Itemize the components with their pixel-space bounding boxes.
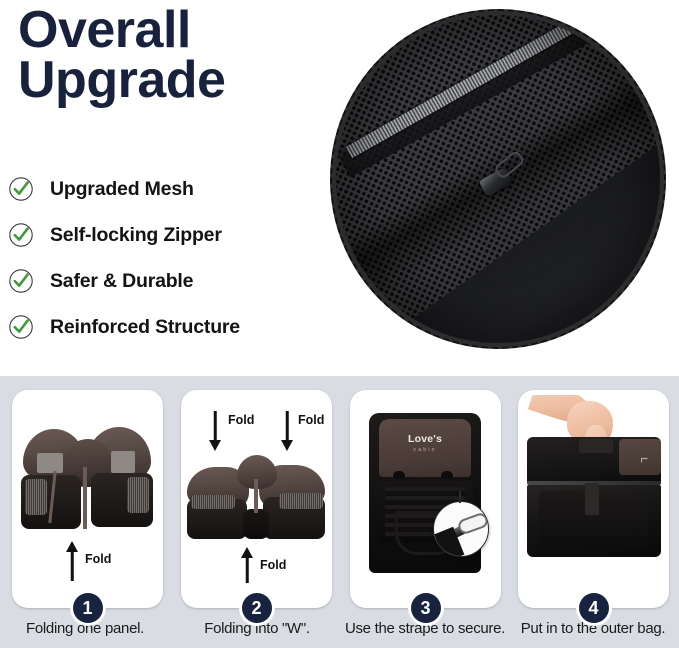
- folding-steps-section: Fold 1 Folding one panel. Fold Fold: [0, 376, 679, 648]
- step-3-photo: Love's cabin: [355, 395, 496, 591]
- arrow-head-icon: [209, 440, 221, 451]
- playpen-center-seam: [83, 467, 87, 529]
- strap-detail-inset: [433, 501, 489, 557]
- fold-arrow-down-right: [278, 411, 296, 451]
- step-number-badge: 2: [242, 593, 272, 623]
- playpen-illustration: [21, 423, 155, 535]
- feature-label: Upgraded Mesh: [50, 178, 194, 201]
- feature-label: Safer & Durable: [50, 270, 193, 293]
- step-card-4: L 4: [518, 390, 669, 608]
- step-card-2: Fold Fold Fold 2: [181, 390, 332, 608]
- playpen-body-center-notch: [243, 509, 269, 539]
- fold-label: Fold: [260, 558, 286, 572]
- arrow-shaft: [286, 411, 289, 441]
- arrow-shaft: [71, 551, 74, 581]
- playpen-mesh-right: [127, 477, 149, 513]
- hero-photo-inner: [336, 15, 660, 343]
- feature-list: Upgraded Mesh Self-locking Zipper Safer …: [8, 166, 318, 350]
- feature-highlight-section: Overall Upgrade Upgraded Mesh Self-locki…: [0, 0, 679, 376]
- step-card-3: Love's cabin 3: [350, 390, 501, 608]
- fold-arrow-up: [63, 541, 81, 581]
- playpen-mesh-right: [279, 493, 323, 509]
- inset-strap-tip: [456, 511, 489, 535]
- fold-label: Fold: [298, 413, 324, 427]
- check-circle-icon: [8, 222, 34, 248]
- outer-bag-logo-mark: L: [639, 457, 649, 463]
- page-title-line-1: Overall: [18, 6, 318, 56]
- step-4-photo: L: [523, 395, 664, 591]
- step-2-photo: Fold Fold Fold: [186, 395, 327, 591]
- playpen-window-left: [37, 453, 63, 473]
- step-card-1: Fold 1: [12, 390, 163, 608]
- feature-label: Reinforced Structure: [50, 316, 240, 339]
- hero-product-closeup-photo: [330, 9, 666, 349]
- playpen-illustration-w: [187, 455, 327, 541]
- fold-arrow-up: [238, 547, 256, 583]
- feature-item-self-locking-zipper: Self-locking Zipper: [8, 212, 318, 258]
- arrow-head-icon: [281, 440, 293, 451]
- outer-bag-handle-strap: [579, 439, 613, 453]
- fold-label: Fold: [85, 552, 111, 566]
- bag-tab-left: [393, 471, 405, 479]
- brand-logo-subtext: cabin: [379, 447, 471, 453]
- arrow-shaft: [214, 411, 217, 441]
- fold-label: Fold: [228, 413, 254, 427]
- arrow-shaft: [246, 557, 249, 583]
- check-circle-icon: [8, 176, 34, 202]
- playpen-center-seam: [254, 479, 258, 513]
- step-number-badge: 3: [411, 593, 441, 623]
- feature-item-reinforced-structure: Reinforced Structure: [8, 304, 318, 350]
- bag-tab-right: [441, 471, 453, 479]
- brand-logo-text: Love's: [379, 433, 471, 445]
- step-number-badge: 1: [73, 593, 103, 623]
- step-1-photo: Fold: [17, 395, 158, 591]
- feature-label: Self-locking Zipper: [50, 224, 222, 247]
- feature-item-upgraded-mesh: Upgraded Mesh: [8, 166, 318, 212]
- fold-arrow-down-left: [206, 411, 224, 451]
- check-circle-icon: [8, 314, 34, 340]
- page-title-line-2: Upgrade: [18, 56, 318, 106]
- playpen-mesh-left: [191, 495, 235, 509]
- playpen-mesh-left: [25, 479, 47, 515]
- playpen-window-right: [111, 451, 135, 473]
- page-title: Overall Upgrade: [18, 6, 318, 106]
- check-circle-icon: [8, 268, 34, 294]
- step-number-badge: 4: [579, 593, 609, 623]
- inset-pointer-line: [459, 491, 461, 503]
- outer-bag-carry-strap: [585, 483, 599, 515]
- feature-item-safer-durable: Safer & Durable: [8, 258, 318, 304]
